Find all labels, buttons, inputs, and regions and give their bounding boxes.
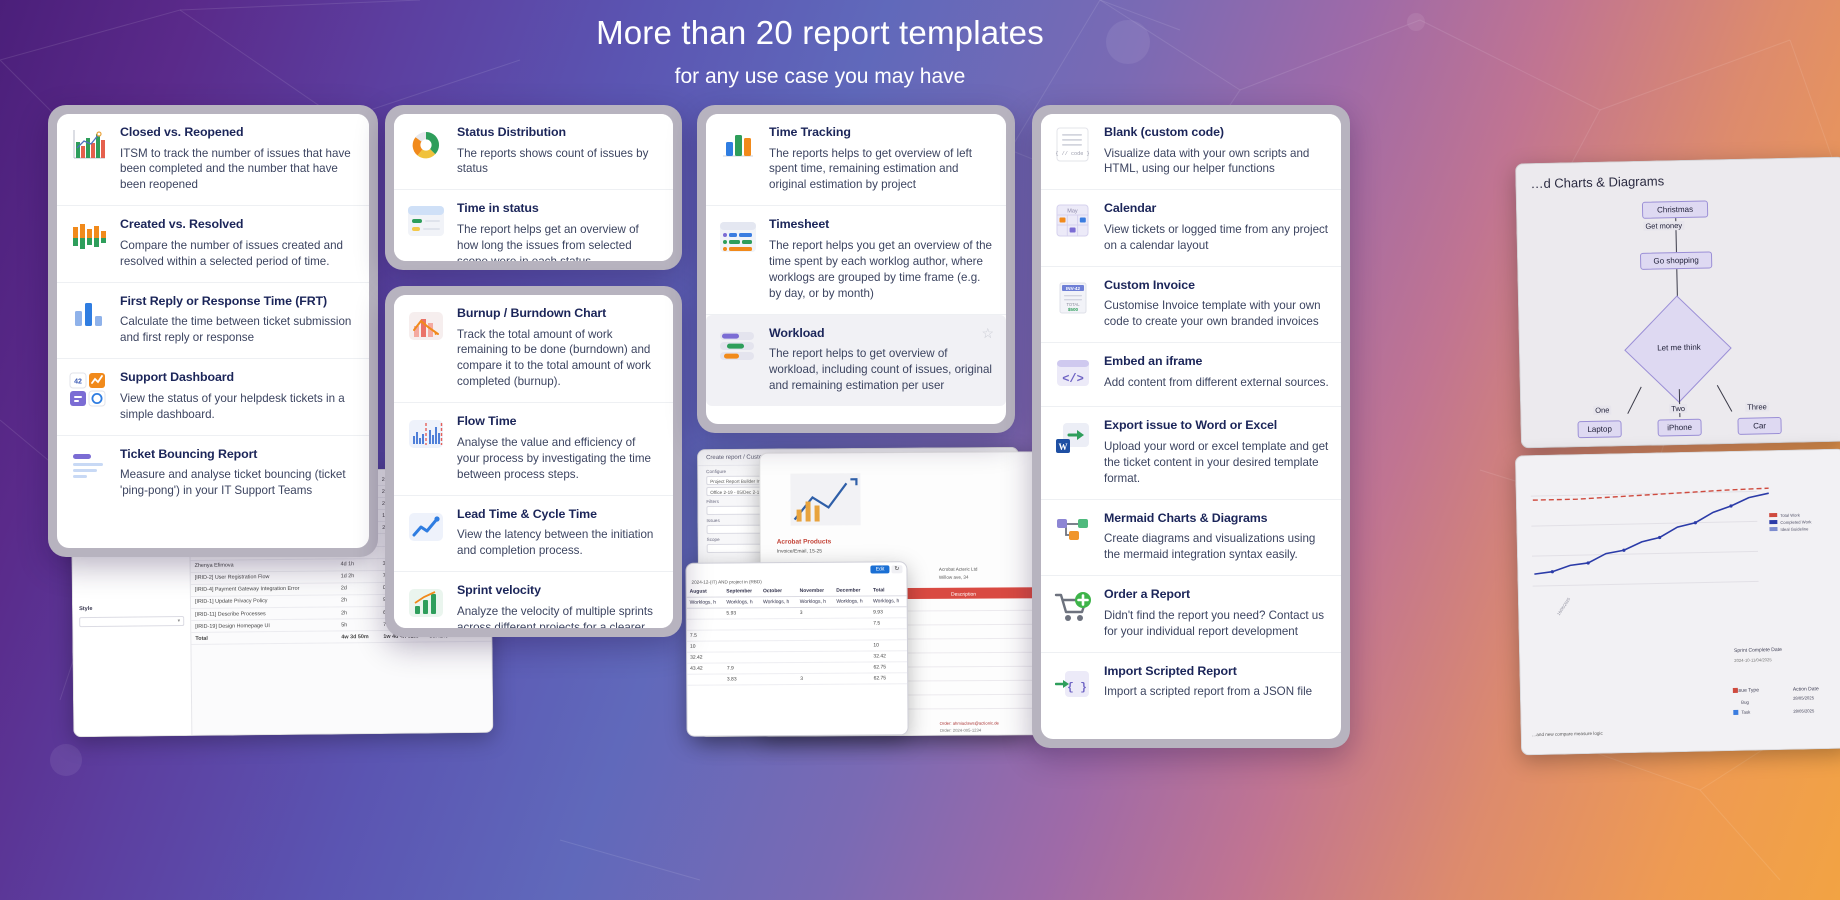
report-card-desc: Measure and analyse ticket bouncing (tic… <box>120 467 357 499</box>
report-card-title: Status Distribution <box>457 125 661 141</box>
report-card-text: First Reply or Response Time (FRT) Calcu… <box>120 294 357 346</box>
import-scripted-icon: { } <box>1053 664 1093 704</box>
report-card-title: Export issue to Word or Excel <box>1104 418 1329 434</box>
svg-text:Completed Work: Completed Work <box>1780 519 1812 525</box>
report-card-desc: The report helps get an overview of how … <box>457 222 661 261</box>
report-card-text: Import Scripted Report Import a scripted… <box>1104 664 1329 704</box>
report-card-embed-iframe[interactable]: </> Embed an iframe Add content from dif… <box>1041 343 1341 407</box>
report-card-text: Export issue to Word or Excel Upload you… <box>1104 418 1329 486</box>
donut-chart-icon <box>406 125 446 165</box>
report-card-text: Burnup / Burndown Chart Track the total … <box>457 306 661 390</box>
report-card-title: Import Scripted Report <box>1104 664 1329 680</box>
svg-text:Total Work: Total Work <box>1780 513 1801 518</box>
svg-text:16/05/2025: 16/05/2025 <box>1556 596 1572 616</box>
svg-text:Sprint Complete Date: Sprint Complete Date <box>1734 647 1782 654</box>
export-word-excel-icon: W <box>1053 418 1093 458</box>
svg-text:$500: $500 <box>1068 307 1079 312</box>
report-card-created-vs-resolved[interactable]: Created vs. Resolved Compare the number … <box>57 206 369 282</box>
template-group-2a: Status Distribution The reports shows co… <box>394 114 673 261</box>
calendar-icon: May <box>1053 201 1093 241</box>
template-group-1: Closed vs. Reopened ITSM to track the nu… <box>57 114 369 548</box>
background-chart-panel: 16/05/2025 Total Work Completed Work Ide… <box>1515 449 1840 756</box>
report-card-desc: Analyze the velocity of multiple sprints… <box>457 604 661 628</box>
mermaid-edge-label-three: Three <box>1745 402 1769 411</box>
worklog-toolbar: Edit ↻ <box>686 562 906 578</box>
template-column-2-group-b: Burnup / Burndown Chart Track the total … <box>385 286 682 637</box>
mermaid-edge-label-two: Two <box>1669 404 1687 413</box>
page-subtitle: for any use case you may have <box>0 63 1640 90</box>
report-card-closed-vs-reopened[interactable]: Closed vs. Reopened ITSM to track the nu… <box>57 114 369 206</box>
background-mermaid-panel: …d Charts & Diagrams Christmas Get money… <box>1515 157 1840 449</box>
report-card-calendar[interactable]: May Calendar View tickets or logged time… <box>1041 190 1341 266</box>
report-card-blank-custom-code[interactable]: { // code } Blank (custom code) Visualiz… <box>1041 114 1341 190</box>
svg-text:May: May <box>1067 209 1078 215</box>
report-card-text: Embed an iframe Add content from differe… <box>1104 354 1329 394</box>
template-column-4: { // code } Blank (custom code) Visualiz… <box>1032 105 1350 748</box>
template-column-3: Time Tracking The reports helps to get o… <box>697 105 1015 433</box>
report-card-title: Lead Time & Cycle Time <box>457 507 661 523</box>
svg-text:{ // code }: { // code } <box>1055 151 1089 157</box>
blue-bars-icon <box>69 294 109 334</box>
svg-text:Acrobat Products: Acrobat Products <box>777 538 832 545</box>
report-card-desc: Analyse the value and efficiency of your… <box>457 435 661 483</box>
created-resolved-bars-icon <box>69 217 109 257</box>
report-card-time-in-status[interactable]: Time in status The report helps get an o… <box>394 190 673 261</box>
report-card-text: Created vs. Resolved Compare the number … <box>120 217 357 269</box>
report-card-desc: The reports shows count of issues by sta… <box>457 146 661 178</box>
time-tracking-bars-icon <box>718 125 758 165</box>
report-card-ticket-bouncing[interactable]: Ticket Bouncing Report Measure and analy… <box>57 436 369 511</box>
sprint-velocity-icon <box>406 583 446 623</box>
report-card-desc: Create diagrams and visualizations using… <box>1104 531 1329 563</box>
burnup-burndown-icon <box>406 306 446 346</box>
mermaid-edge-label-get-money: Get money <box>1643 221 1684 231</box>
svg-text:Description: Description <box>951 592 976 598</box>
report-card-custom-invoice[interactable]: INV-42 TOTAL $500 Custom Invoice Customi… <box>1041 267 1341 343</box>
report-card-text: Custom Invoice Customise Invoice templat… <box>1104 278 1329 330</box>
report-card-desc: The report helps you get an overview of … <box>769 238 994 302</box>
template-column-1: Closed vs. Reopened ITSM to track the nu… <box>48 105 378 557</box>
report-card-title: Created vs. Resolved <box>120 217 357 233</box>
mermaid-node-go-shopping: Go shopping <box>1640 251 1712 270</box>
report-card-mermaid-charts[interactable]: Mermaid Charts & Diagrams Create diagram… <box>1041 500 1341 576</box>
order-report-cart-icon <box>1053 587 1093 627</box>
report-card-title: Timesheet <box>769 217 994 233</box>
report-card-desc: Upload your word or excel template and g… <box>1104 439 1329 487</box>
svg-text:Order: 2024-005-1234: Order: 2024-005-1234 <box>940 728 982 733</box>
mermaid-node-iphone: iPhone <box>1657 419 1701 437</box>
report-card-text: Lead Time & Cycle Time View the latency … <box>457 507 661 559</box>
embed-iframe-icon: </> <box>1053 354 1093 394</box>
report-card-desc: Customise Invoice template with your own… <box>1104 298 1329 330</box>
time-in-status-icon <box>406 201 446 241</box>
report-card-desc: Import a scripted report from a JSON fil… <box>1104 684 1329 700</box>
report-card-text: Closed vs. Reopened ITSM to track the nu… <box>120 125 357 193</box>
worklog-row: 3.83362.75 <box>687 673 907 686</box>
ticket-bouncing-icon <box>69 447 109 487</box>
report-card-title: Workload <box>769 326 994 342</box>
report-card-text: Status Distribution The reports shows co… <box>457 125 661 177</box>
report-card-title: Time Tracking <box>769 125 994 141</box>
dashboard-gadgets-icon: 42 <box>69 370 109 410</box>
report-card-time-tracking[interactable]: Time Tracking The reports helps to get o… <box>706 114 1006 206</box>
svg-text:28/05/2025: 28/05/2025 <box>1793 695 1815 700</box>
svg-text:Invoice/Email, 15-25: Invoice/Email, 15-25 <box>777 548 823 554</box>
report-card-desc: Add content from different external sour… <box>1104 375 1329 391</box>
svg-text:Willow ave, 34: Willow ave, 34 <box>939 575 969 580</box>
svg-text:Action Date: Action Date <box>1793 686 1819 693</box>
mermaid-diagram-icon <box>1053 511 1093 551</box>
page-title: More than 20 report templates <box>0 12 1640 55</box>
report-card-title: Closed vs. Reopened <box>120 125 357 141</box>
svg-text:42: 42 <box>74 379 82 386</box>
svg-text:{ }: { } <box>1067 682 1087 694</box>
report-card-title: Mermaid Charts & Diagrams <box>1104 511 1329 527</box>
report-card-burnup-burndown[interactable]: Burnup / Burndown Chart Track the total … <box>394 295 673 403</box>
svg-text:</>: </> <box>1062 372 1084 386</box>
report-card-desc: View the latency between the initiation … <box>457 527 661 559</box>
report-card-desc: The reports helps to get overview of lef… <box>769 146 994 194</box>
report-card-desc: View the status of your helpdesk tickets… <box>120 391 357 423</box>
report-card-title: Calendar <box>1104 201 1329 217</box>
svg-text:Ideal Guideline: Ideal Guideline <box>1780 526 1809 532</box>
report-card-desc: Track the total amount of work remaining… <box>457 327 661 391</box>
report-card-status-distribution[interactable]: Status Distribution The reports shows co… <box>394 114 673 190</box>
svg-text:…and new compare measure logic: …and new compare measure logic <box>1532 731 1604 738</box>
blank-code-icon: { // code } <box>1053 125 1093 165</box>
svg-text:Order: ahmiaclaws@actionic.de: Order: ahmiaclaws@actionic.de <box>940 721 1000 726</box>
report-card-title: Flow Time <box>457 414 661 430</box>
report-card-desc: Compare the number of issues created and… <box>120 238 357 270</box>
svg-text:INV-42: INV-42 <box>1066 286 1080 291</box>
report-card-title: Support Dashboard <box>120 370 357 386</box>
report-card-flow-time[interactable]: Flow Time Analyse the value and efficien… <box>394 403 673 495</box>
report-card-desc: Visualize data with your own scripts and… <box>1104 146 1329 178</box>
report-card-workload[interactable]: Workload The report helps to get overvie… <box>706 315 1006 406</box>
workload-icon <box>718 326 758 366</box>
report-card-export-word-excel[interactable]: W Export issue to Word or Excel Upload y… <box>1041 407 1341 499</box>
report-card-text: Ticket Bouncing Report Measure and analy… <box>120 447 357 499</box>
report-card-title: Embed an iframe <box>1104 354 1329 370</box>
report-card-desc: Didn't find the report you need? Contact… <box>1104 608 1329 640</box>
report-card-text: Support Dashboard View the status of you… <box>120 370 357 422</box>
report-card-text: Mermaid Charts & Diagrams Create diagram… <box>1104 511 1329 563</box>
svg-text:Task: Task <box>1741 710 1751 715</box>
mermaid-node-let-me-think: Let me think <box>1648 342 1710 352</box>
report-card-title: Time in status <box>457 201 661 217</box>
svg-text:Issue Type: Issue Type <box>1735 687 1759 694</box>
worklog-refresh-icon[interactable]: ↻ <box>891 565 902 573</box>
lead-cycle-time-icon <box>406 507 446 547</box>
svg-text:28/05/2025: 28/05/2025 <box>1793 708 1815 713</box>
page-header: More than 20 report templates for any us… <box>0 12 1640 90</box>
template-group-4: { // code } Blank (custom code) Visualiz… <box>1041 114 1341 739</box>
svg-text:Acrobat Acteric Ltd: Acrobat Acteric Ltd <box>939 567 978 572</box>
report-card-title: Ticket Bouncing Report <box>120 447 357 463</box>
svg-text:Bug: Bug <box>1741 700 1749 705</box>
report-card-text: Workload The report helps to get overvie… <box>769 326 994 394</box>
template-group-2b: Burnup / Burndown Chart Track the total … <box>394 295 673 628</box>
worklog-edit-button[interactable]: Edit <box>871 565 890 573</box>
custom-invoice-icon: INV-42 TOTAL $500 <box>1053 278 1093 318</box>
template-group-3: Time Tracking The reports helps to get o… <box>706 114 1006 424</box>
style-select <box>79 616 184 627</box>
mermaid-edge-5 <box>1717 385 1733 412</box>
timesheet-icon <box>718 217 758 257</box>
report-card-lead-cycle-time[interactable]: Lead Time & Cycle Time View the latency … <box>394 496 673 572</box>
favorite-star-icon[interactable]: ☆ <box>981 325 994 342</box>
report-card-title: Order a Report <box>1104 587 1329 603</box>
mermaid-edge-3 <box>1627 387 1641 414</box>
report-card-text: Flow Time Analyse the value and efficien… <box>457 414 661 482</box>
report-card-text: Order a Report Didn't find the report yo… <box>1104 587 1329 639</box>
svg-text:W: W <box>1059 442 1068 452</box>
mermaid-node-laptop: Laptop <box>1577 420 1621 438</box>
mermaid-node-christmas: Christmas <box>1642 200 1708 218</box>
report-card-title: Burnup / Burndown Chart <box>457 306 661 322</box>
background-burnup-chart: 16/05/2025 Total Work Completed Work Ide… <box>1516 450 1840 756</box>
report-card-desc: ITSM to track the number of issues that … <box>120 146 357 194</box>
report-card-title: First Reply or Response Time (FRT) <box>120 294 357 310</box>
report-card-desc: The report helps to get overview of work… <box>769 346 994 394</box>
report-card-support-dashboard[interactable]: 42 Support Dashboard View the status of … <box>57 359 369 435</box>
report-card-sprint-velocity[interactable]: Sprint velocity Analyze the velocity of … <box>394 572 673 628</box>
report-card-order-a-report[interactable]: Order a Report Didn't find the report yo… <box>1041 576 1341 652</box>
report-card-text: Calendar View tickets or logged time fro… <box>1104 201 1329 253</box>
background-worklog-panel: Edit ↻ 2024-12-(IT) AND project in (RBD)… <box>685 561 908 737</box>
svg-text:2024-10-11/04/2025: 2024-10-11/04/2025 <box>1734 657 1772 663</box>
report-card-text: Time in status The report helps get an o… <box>457 201 661 261</box>
mermaid-panel-title: …d Charts & Diagrams <box>1516 158 1840 192</box>
mermaid-node-car: Car <box>1737 417 1781 435</box>
report-card-text: Timesheet The report helps you get an ov… <box>769 217 994 301</box>
flow-time-icon <box>406 414 446 454</box>
report-card-text: Sprint velocity Analyze the velocity of … <box>457 583 661 628</box>
promo-page: More than 20 report templates for any us… <box>0 0 1840 900</box>
report-card-desc: Calculate the time between ticket submis… <box>120 314 357 346</box>
report-card-import-scripted-report[interactable]: { } Import Scripted Report Import a scri… <box>1041 653 1341 716</box>
report-card-desc: View tickets or logged time from any pro… <box>1104 222 1329 254</box>
report-card-first-reply-time[interactable]: First Reply or Response Time (FRT) Calcu… <box>57 283 369 359</box>
report-card-title: Blank (custom code) <box>1104 125 1329 141</box>
bar-line-combo-chart-icon <box>69 125 109 165</box>
style-label: Style <box>73 602 190 615</box>
report-card-text: Blank (custom code) Visualize data with … <box>1104 125 1329 177</box>
report-card-text: Time Tracking The reports helps to get o… <box>769 125 994 193</box>
template-column-2-group-a: Status Distribution The reports shows co… <box>385 105 682 270</box>
mermaid-edge-label-one: One <box>1593 406 1611 415</box>
report-card-title: Sprint velocity <box>457 583 661 599</box>
report-card-timesheet[interactable]: Timesheet The report helps you get an ov… <box>706 206 1006 314</box>
report-card-title: Custom Invoice <box>1104 278 1329 294</box>
